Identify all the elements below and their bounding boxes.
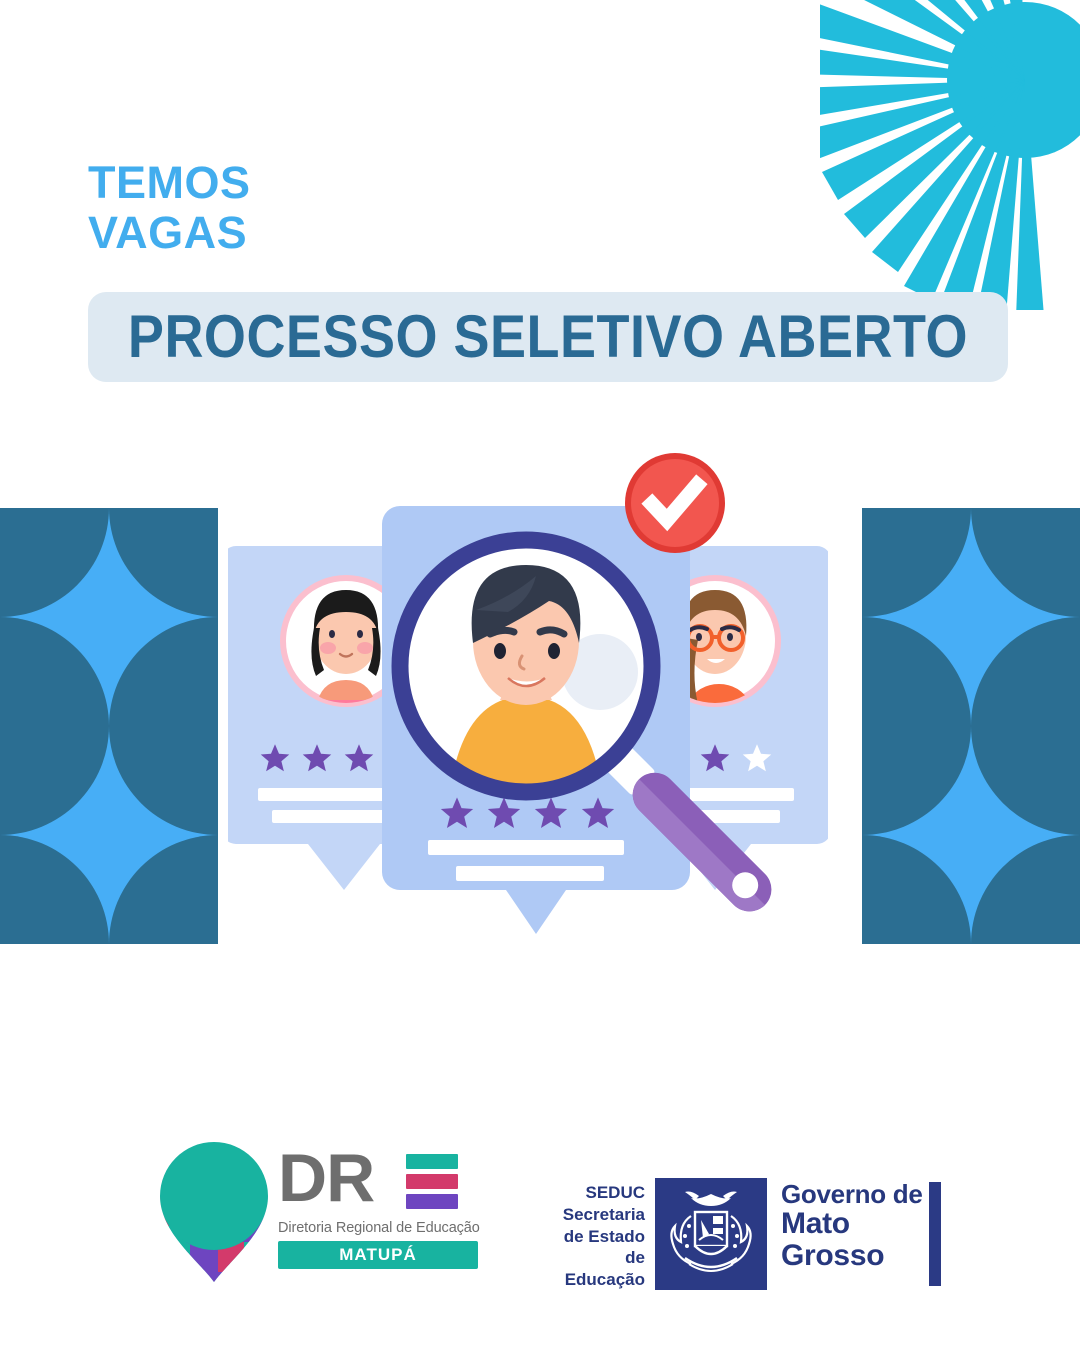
check-circle-icon xyxy=(625,453,725,553)
mato-grosso-coat-of-arms-icon xyxy=(655,1178,767,1290)
gov-name-line-0: Governo de xyxy=(781,1180,922,1208)
sunburst-decoration xyxy=(820,0,1080,310)
eyebrow-line-2: VAGAS xyxy=(88,208,488,258)
eyebrow-line-1: TEMOS xyxy=(88,158,488,208)
seduc-text: SEDUC Secretaria de Estado de Educação xyxy=(545,1182,645,1291)
seduc-line-0: SEDUC xyxy=(545,1182,645,1204)
gov-name-line-2: Grosso xyxy=(781,1240,922,1272)
headline-banner: PROCESSO SELETIVO ABERTO xyxy=(88,292,1008,382)
map-pin-mato-grosso-icon xyxy=(160,1142,268,1284)
government-accent-bar xyxy=(929,1182,941,1286)
dre-subtitle: Diretoria Regional de Educação xyxy=(278,1220,478,1236)
seduc-line-1: Secretaria xyxy=(545,1204,645,1226)
dre-acronym-e-bars xyxy=(406,1154,458,1214)
dre-city-badge: MATUPÁ xyxy=(278,1241,478,1269)
dre-acronym: DR xyxy=(278,1144,374,1212)
poster-canvas: TEMOS VAGAS PROCESSO SELETIVO ABERTO xyxy=(0,0,1080,1350)
dre-city-label: MATUPÁ xyxy=(339,1245,416,1265)
petal-pattern-left xyxy=(0,508,218,944)
eyebrow-text: TEMOS VAGAS xyxy=(88,158,488,259)
seduc-line-2: de Estado xyxy=(545,1226,645,1248)
candidate-selection-illustration xyxy=(228,438,828,1008)
dre-logo: DR Diretoria Regional de Educação MATUPÁ xyxy=(160,1140,480,1300)
government-name: Governo de Mato Grosso xyxy=(781,1180,922,1273)
government-logo: SEDUC Secretaria de Estado de Educação xyxy=(545,1178,945,1298)
petal-pattern-right xyxy=(862,508,1080,944)
gov-name-line-1: Mato xyxy=(781,1208,922,1240)
page-title: PROCESSO SELETIVO ABERTO xyxy=(88,302,1008,371)
seduc-line-3: de Educação xyxy=(545,1247,645,1291)
